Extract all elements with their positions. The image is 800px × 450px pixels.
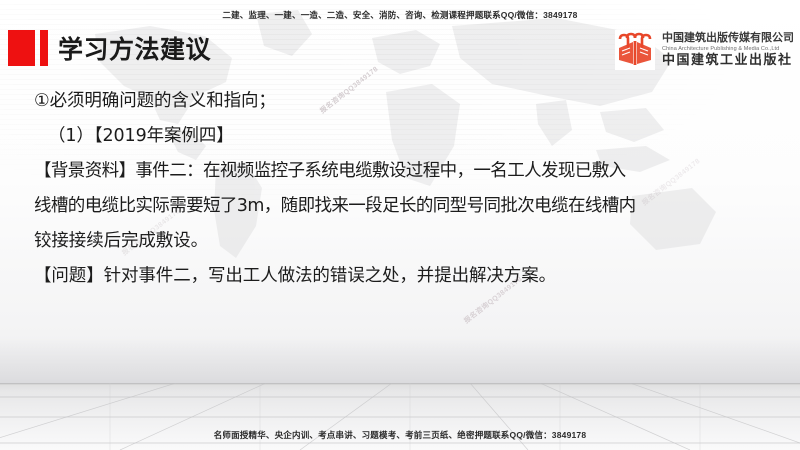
wall-shadow xyxy=(0,338,800,384)
body-line-1: ①必须明确问题的含义和指向； xyxy=(34,84,786,119)
footer-contact-line: 名师面授精华、央企内训、考点串讲、习题模考、考前三页纸、绝密押题联系QQ/微信：… xyxy=(0,429,800,441)
publisher-logo: 中国建筑出版传媒有限公司 China Architecture Publishi… xyxy=(615,28,794,72)
publisher-logo-text: 中国建筑出版传媒有限公司 China Architecture Publishi… xyxy=(662,32,794,69)
slide-title-group: 学习方法建议 xyxy=(8,29,211,67)
slide-body: ①必须明确问题的含义和指向； （1）【2019年案例四】 【背景资料】事件二：在… xyxy=(34,84,786,294)
title-accent-bar-icon xyxy=(40,30,48,66)
body-line-4: 线槽的电缆比实际需要短了3m，随即找来一段足长的同型号同批次电缆在线槽内 xyxy=(34,189,786,224)
body-line-3: 【背景资料】事件二：在视频监控子系统电缆敷设过程中，一名工人发现已敷入 xyxy=(34,154,786,189)
publisher-company-cn: 中国建筑出版传媒有限公司 xyxy=(662,32,794,45)
presentation-slide: 二建、监理、一建、一造、二造、安全、消防、咨询、检测课程押题联系QQ/微信：38… xyxy=(0,0,800,450)
body-line-5: 铰接接续后完成敷设。 xyxy=(34,224,786,259)
publisher-press-cn: 中国建筑工业出版社 xyxy=(662,53,794,69)
body-line-2: （1）【2019年案例四】 xyxy=(34,119,786,154)
header-contact-line: 二建、监理、一建、一造、二造、安全、消防、咨询、检测课程押题联系QQ/微信：38… xyxy=(0,9,800,21)
publisher-company-en: China Architecture Publishing & Media Co… xyxy=(662,45,794,53)
page-title: 学习方法建议 xyxy=(58,30,211,66)
open-book-emblem-icon xyxy=(615,30,655,70)
body-line-6: 【问题】针对事件二，写出工人做法的错误之处，并提出解决方案。 xyxy=(34,259,786,294)
title-accent-block-icon xyxy=(8,30,35,66)
